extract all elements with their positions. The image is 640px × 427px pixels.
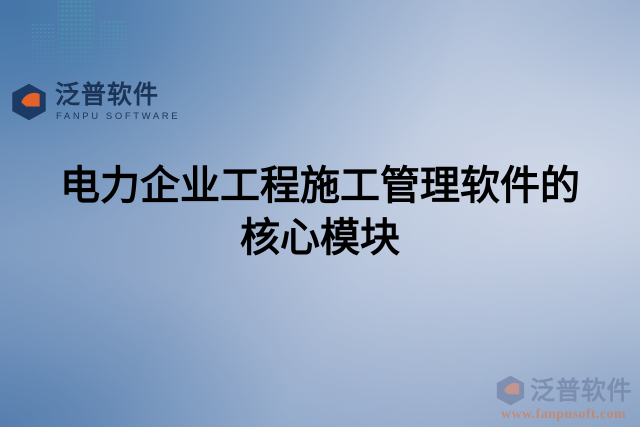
banner-canvas: 泛普软件 FANPU SOFTWARE 电力企业工程施工管理软件的 核心模块 泛… [0, 0, 640, 427]
brand-name-cn: 泛普软件 [55, 82, 180, 109]
watermark: 泛普软件 www.fanpusoft.com [495, 375, 632, 423]
headline-line-1: 电力企业工程施工管理软件的 [0, 160, 640, 212]
headline-line-2: 核心模块 [0, 212, 640, 264]
fanpu-logo-mark-watermark-icon [495, 375, 526, 406]
brand-name-en: FANPU SOFTWARE [55, 112, 180, 122]
pixel-skyline-decoration [24, 0, 164, 82]
headline: 电力企业工程施工管理软件的 核心模块 [0, 160, 640, 264]
watermark-row: 泛普软件 [495, 375, 632, 406]
fanpu-logo-mark-icon [10, 83, 48, 121]
brand-wordmark: 泛普软件 FANPU SOFTWARE [55, 82, 180, 121]
watermark-url: www.fanpusoft.com [501, 407, 626, 423]
brand-lockup: 泛普软件 FANPU SOFTWARE [10, 82, 180, 121]
watermark-name-cn: 泛普软件 [530, 378, 632, 403]
